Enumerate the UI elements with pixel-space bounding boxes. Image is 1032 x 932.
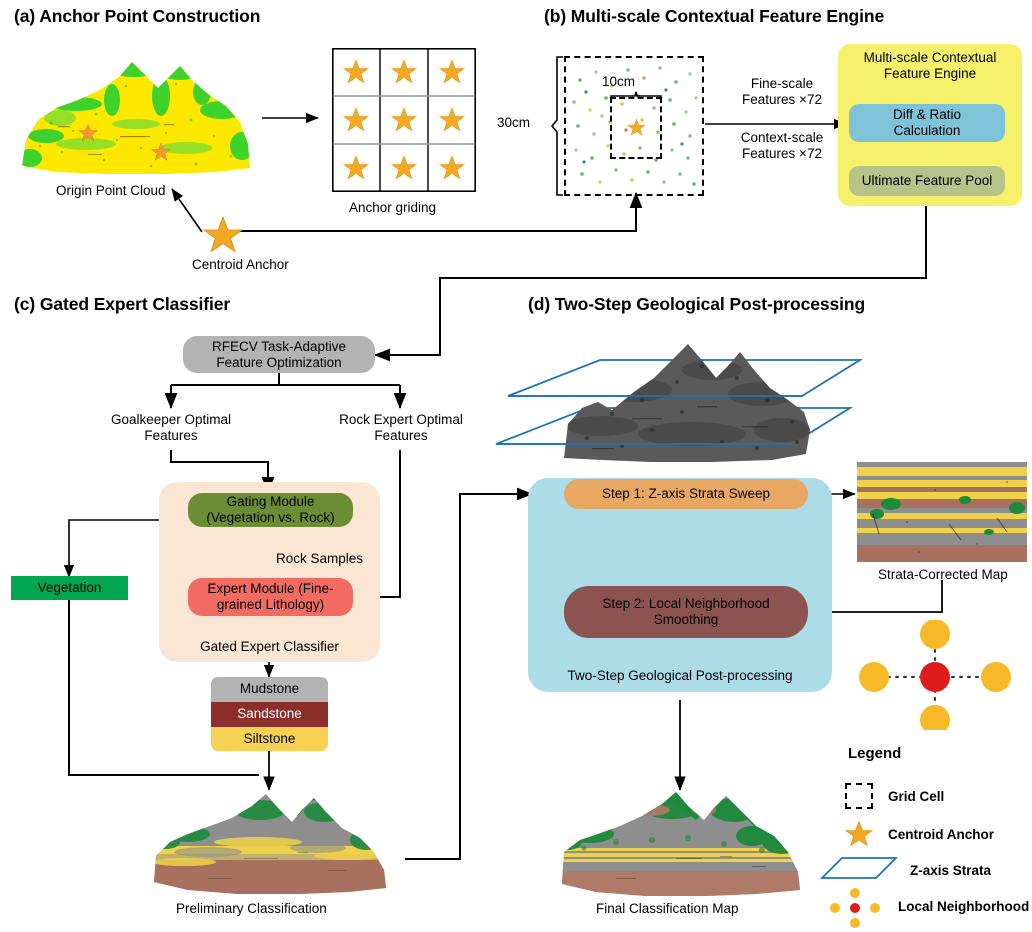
anchor-grid-caption: Anchor griding (349, 200, 436, 215)
final-classification-cloud (556, 790, 806, 900)
centroid-anchor-star (627, 118, 646, 137)
rfecv-label-line2: Feature Optimization (216, 355, 341, 371)
fine-scale-label-line1: Fine-scale (722, 76, 842, 92)
expert-module-label-line1: Expert Module (Fine- (207, 581, 333, 597)
anchor-grid (332, 48, 476, 192)
fine-scale-label-line2: Features ×72 (722, 92, 842, 108)
gating-module-label-line1: Gating Module (227, 494, 315, 510)
centroid-anchor-caption: Centroid Anchor (192, 257, 289, 272)
rock-expert-features-label-line2: Features (322, 428, 480, 444)
legend-grid-cell-icon (845, 783, 873, 809)
legend-item-label: Grid Cell (888, 789, 944, 804)
diff-ratio-node[interactable]: Diff & Ratio Calculation (849, 104, 1005, 142)
step2-label-line1: Step 2: Local Neighborhood (602, 596, 769, 612)
context-scale-label-line2: Features ×72 (722, 146, 842, 162)
lithology-label: Siltstone (244, 731, 296, 747)
goalkeeper-features-label-line2: Features (91, 428, 251, 444)
lithology-item-mudstone[interactable]: Mudstone (211, 677, 328, 702)
post-processing-caption: Two-Step Geological Post-processing (528, 668, 832, 684)
lithology-label: Mudstone (240, 681, 299, 697)
panel-d-title: (d) Two-Step Geological Post-processing (528, 294, 865, 315)
vegetation-label: Vegetation (38, 580, 102, 596)
context-scale-label-line1: Context-scale (722, 130, 842, 146)
figure-root: (a) Anchor Point Construction (0, 0, 1032, 932)
strata-corrected-map (857, 462, 1027, 562)
gated-expert-classifier-caption: Gated Expert Classifier (159, 639, 380, 655)
lithology-label: Sandstone (237, 706, 302, 722)
post-processing-container (528, 478, 832, 692)
legend-title: Legend (848, 745, 901, 762)
legend-item-label: Centroid Anchor (888, 827, 994, 842)
rfecv-node[interactable]: RFECV Task-Adaptive Feature Optimization (183, 336, 375, 373)
final-classification-caption: Final Classification Map (596, 901, 739, 916)
goalkeeper-features-label-line1: Goalkeeper Optimal (91, 412, 251, 428)
lithology-item-sandstone[interactable]: Sandstone (211, 702, 328, 727)
step2-node[interactable]: Step 2: Local Neighborhood Smoothing (564, 586, 808, 638)
panel-a-title: (a) Anchor Point Construction (14, 6, 260, 27)
step2-label-line2: Smoothing (654, 612, 719, 628)
centroid-anchor-star (203, 215, 243, 255)
expert-module-node[interactable]: Expert Module (Fine- grained Lithology) (188, 578, 353, 616)
expert-module-label-line2: grained Lithology) (217, 597, 324, 613)
strata-sweep-illustration (492, 330, 892, 470)
preliminary-classification-cloud (148, 790, 392, 900)
diff-ratio-label-line2: Calculation (894, 123, 961, 139)
rock-expert-features-label-line1: Rock Expert Optimal (322, 412, 480, 428)
preliminary-classification-caption: Preliminary Classification (176, 901, 327, 916)
legend-neighborhood-icon (826, 887, 884, 929)
legend-item-label: Local Neighborhood (898, 899, 1029, 914)
feature-engine-title-line1: Multi-scale Contextual (842, 50, 1018, 66)
anchor-star-on-cloud (151, 142, 171, 162)
rock-samples-label: Rock Samples (276, 551, 363, 566)
lithology-stack: Mudstone Sandstone Siltstone (211, 677, 328, 751)
lithology-item-siltstone[interactable]: Siltstone (211, 727, 328, 752)
feature-engine-title-line2: Feature Engine (842, 66, 1018, 82)
outer-scale-label: 30cm (497, 115, 530, 130)
step1-label: Step 1: Z-axis Strata Sweep (602, 486, 770, 502)
local-neighborhood-diagram (840, 620, 1030, 730)
legend-item-label: Z-axis Strata (910, 863, 991, 878)
strata-corrected-map-caption: Strata-Corrected Map (878, 567, 1008, 582)
origin-point-cloud-caption: Origin Point Cloud (56, 183, 166, 198)
ultimate-feature-pool-label: Ultimate Feature Pool (862, 173, 993, 189)
legend-star-icon (845, 820, 873, 848)
step1-node[interactable]: Step 1: Z-axis Strata Sweep (564, 479, 808, 509)
anchor-star-on-cloud (78, 123, 98, 143)
diff-ratio-label-line1: Diff & Ratio (893, 107, 961, 123)
rfecv-label-line1: RFECV Task-Adaptive (212, 339, 346, 355)
origin-point-cloud (16, 48, 256, 188)
gating-module-node[interactable]: Gating Module (Vegetation vs. Rock) (188, 493, 353, 527)
gating-module-label-line2: (Vegetation vs. Rock) (206, 510, 334, 526)
ultimate-feature-pool-node[interactable]: Ultimate Feature Pool (849, 166, 1005, 196)
inner-scale-label: 10cm (602, 74, 635, 89)
panel-b-title: (b) Multi-scale Contextual Feature Engin… (544, 6, 884, 27)
panel-c-title: (c) Gated Expert Classifier (14, 294, 230, 315)
legend-plane-icon (820, 855, 898, 881)
outer-scale-brace (551, 56, 565, 196)
vegetation-node[interactable]: Vegetation (11, 576, 128, 600)
